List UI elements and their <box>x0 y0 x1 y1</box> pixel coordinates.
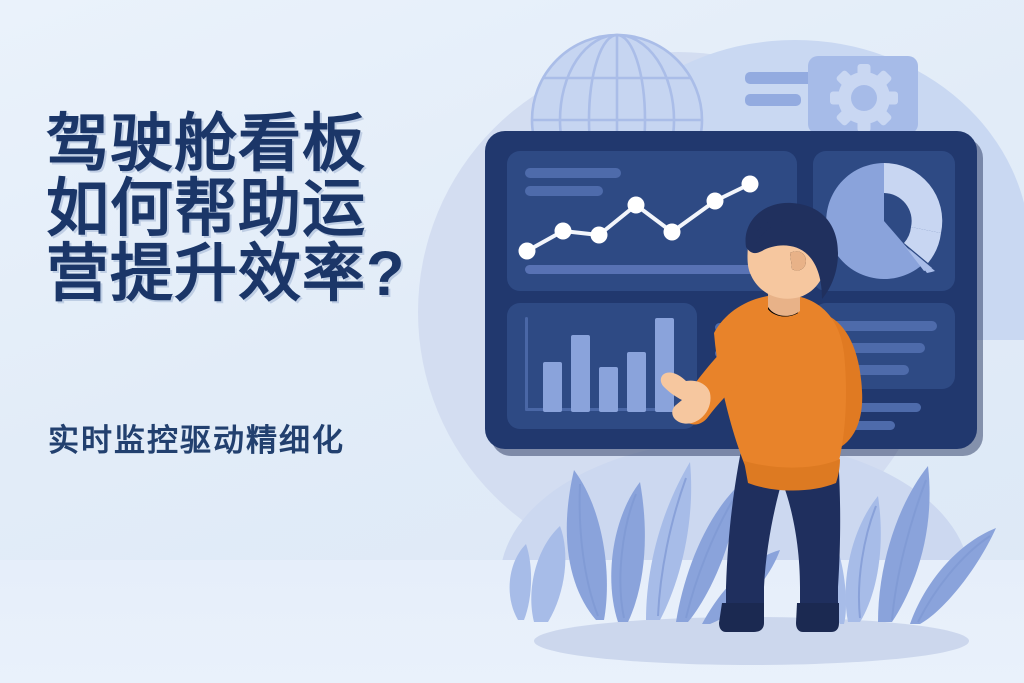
headline-line-2: 如何帮助运 <box>46 177 466 242</box>
bar-2 <box>571 335 590 412</box>
page-subtitle: 实时监控驱动精细化 <box>48 415 345 460</box>
page-title: 驾驶舱看板 如何帮助运 营提升效率? <box>46 112 466 307</box>
gear-icon <box>816 58 912 139</box>
poster-canvas: 驾驶舱看板 如何帮助运 营提升效率? 实时监控驱动精细化 <box>0 0 1024 683</box>
bar-1 <box>543 362 562 412</box>
person-illustration <box>640 195 900 635</box>
bar-3 <box>599 367 618 412</box>
headline-line-3: 营提升效率? <box>46 242 466 307</box>
bar-chart-y-axis <box>525 317 528 411</box>
headline-line-1: 驾驶舱看板 <box>46 112 466 177</box>
header-bar-short <box>745 94 801 106</box>
